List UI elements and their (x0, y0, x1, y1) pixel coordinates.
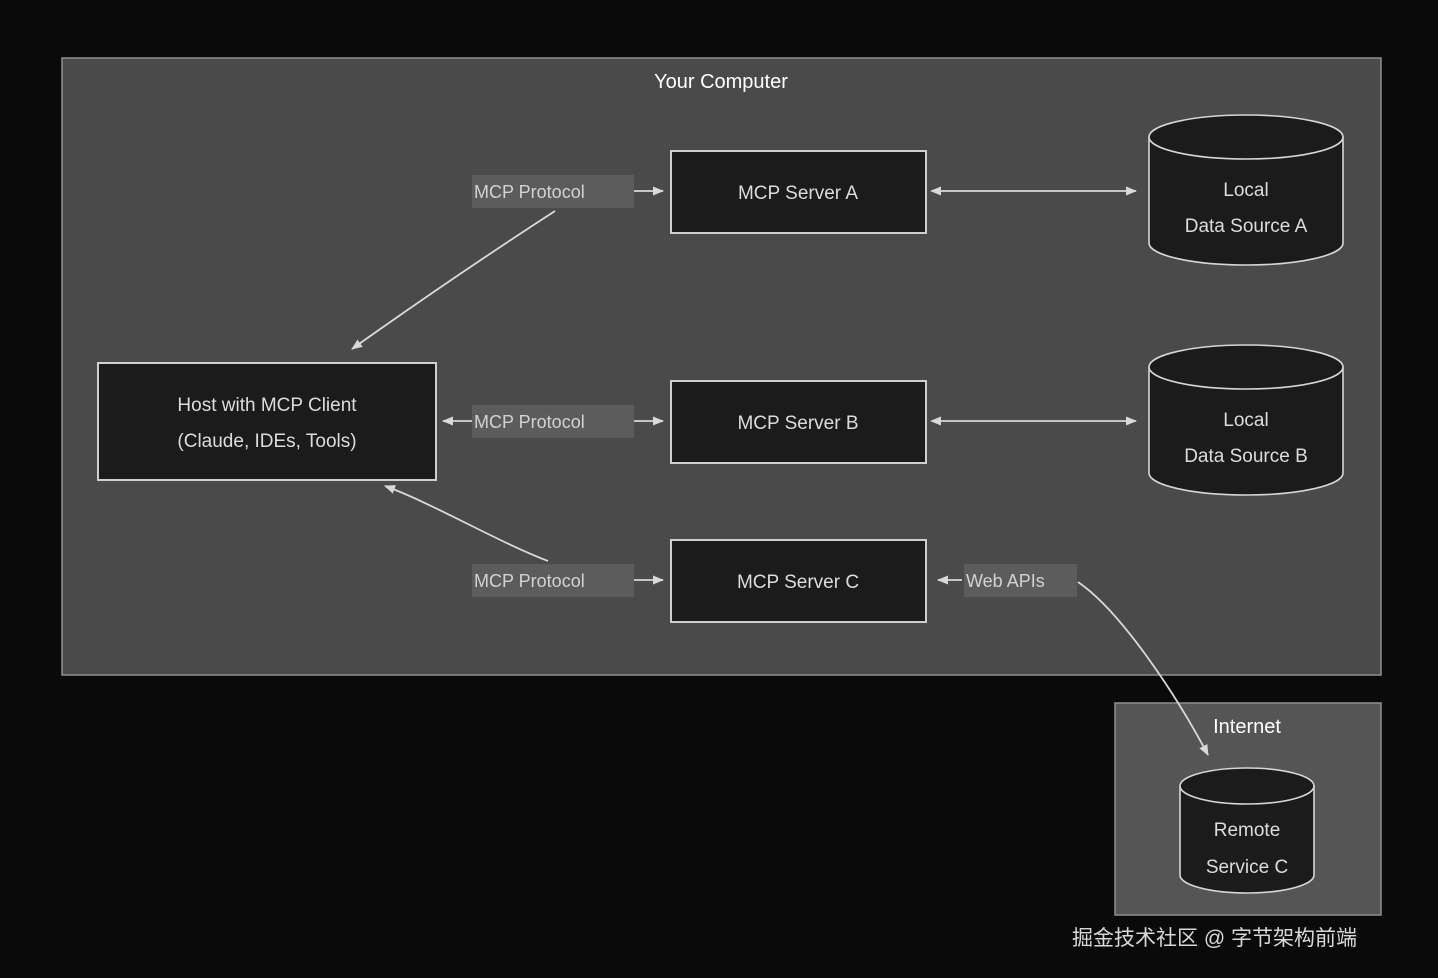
node-remote-service-c-line1: Remote (1214, 820, 1281, 841)
cylinder-b-top (1149, 345, 1343, 389)
node-local-data-source-b-line2: Data Source B (1184, 446, 1308, 467)
node-local-data-source-b-line1: Local (1223, 410, 1268, 431)
diagram-root: Your Computer Internet MCP Protocol (0, 0, 1438, 978)
node-mcp-server-c[interactable]: MCP Server C (671, 540, 926, 622)
node-host-label-line2: (Claude, IDEs, Tools) (177, 431, 356, 452)
node-remote-service-c-line2: Service C (1206, 857, 1288, 878)
label-protocol-c: MCP Protocol (472, 564, 634, 597)
node-mcp-server-b[interactable]: MCP Server B (671, 381, 926, 463)
node-local-data-source-a-line1: Local (1223, 180, 1268, 201)
label-protocol-b-text: MCP Protocol (474, 412, 585, 432)
label-protocol-b: MCP Protocol (472, 405, 634, 438)
node-local-data-source-b[interactable]: Local Data Source B (1149, 345, 1343, 495)
node-local-data-source-a-line2: Data Source A (1185, 216, 1308, 237)
architecture-diagram: Your Computer Internet MCP Protocol (0, 0, 1438, 978)
cylinder-remote-top (1180, 768, 1314, 804)
node-host-with-mcp-client[interactable]: Host with MCP Client (Claude, IDEs, Tool… (98, 363, 436, 480)
node-host-label-line1: Host with MCP Client (177, 395, 357, 416)
node-mcp-server-a-label: MCP Server A (738, 183, 858, 204)
label-web-apis: Web APIs (964, 564, 1077, 597)
node-host-box[interactable] (98, 363, 436, 480)
node-mcp-server-a[interactable]: MCP Server A (671, 151, 926, 233)
node-mcp-server-b-label: MCP Server B (737, 413, 858, 434)
node-local-data-source-a[interactable]: Local Data Source A (1149, 115, 1343, 265)
your-computer-title: Your Computer (654, 71, 788, 93)
label-web-apis-text: Web APIs (966, 571, 1045, 591)
watermark: 掘金技术社区 @ 字节架构前端 (1072, 927, 1357, 950)
cylinder-a-top (1149, 115, 1343, 159)
label-protocol-c-text: MCP Protocol (474, 571, 585, 591)
node-mcp-server-c-label: MCP Server C (737, 572, 859, 593)
label-protocol-a: MCP Protocol (472, 175, 634, 208)
node-remote-service-c[interactable]: Remote Service C (1180, 768, 1314, 893)
label-protocol-a-text: MCP Protocol (474, 182, 585, 202)
internet-title: Internet (1213, 716, 1281, 738)
